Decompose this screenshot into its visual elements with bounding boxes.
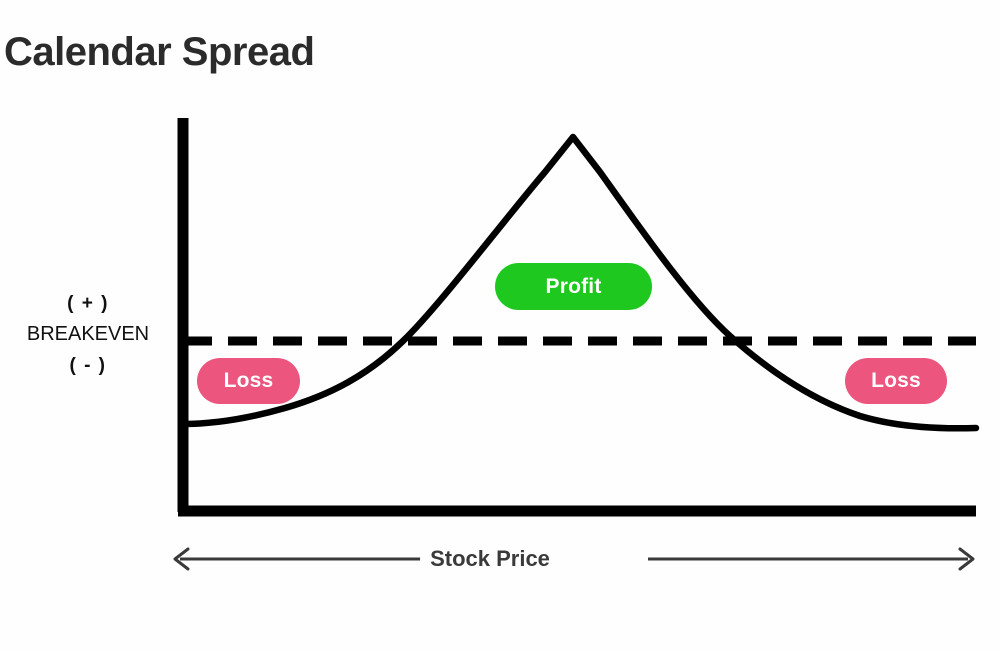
loss-badge-left: Loss [197,358,300,404]
y-axis-breakeven-label: BREAKEVEN [14,315,162,354]
x-axis-label: Stock Price [420,546,560,572]
calendar-spread-chart: Calendar Spread ( + ) BREAKEVEN ( - ) Lo… [0,0,1000,651]
loss-badge-right: Loss [845,358,947,404]
y-axis-label-group: ( + ) BREAKEVEN ( - ) [14,292,162,377]
profit-badge: Profit [495,263,652,310]
y-axis-minus-label: ( - ) [14,354,162,377]
y-axis-plus-label: ( + ) [14,292,162,315]
x-axis-arrow-line [175,549,973,569]
